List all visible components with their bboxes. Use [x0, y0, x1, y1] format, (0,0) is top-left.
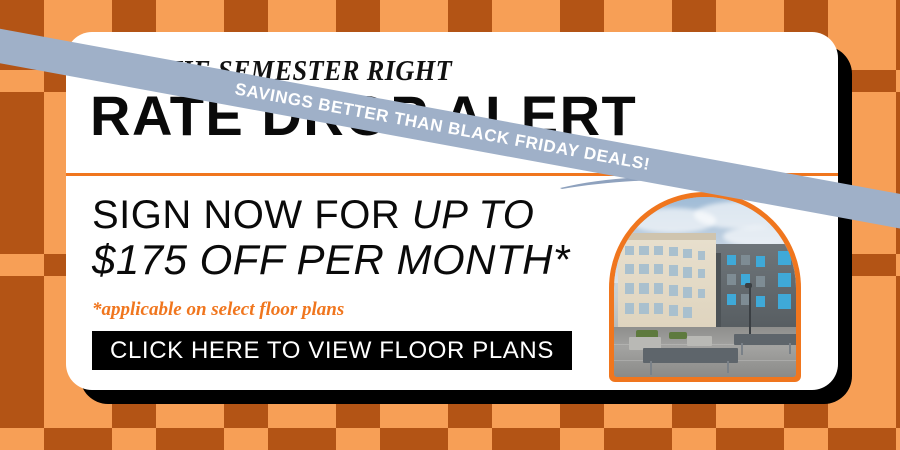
ping-pong-table: [643, 348, 738, 362]
property-photo: [614, 197, 796, 377]
offer-line-1: SIGN NOW FOR UP TO: [92, 194, 570, 237]
lamp-post: [749, 287, 751, 341]
offer-text: SIGN NOW FOR UP TO $175 OFF PER MONTH*: [92, 194, 570, 283]
lamp-head: [745, 283, 752, 288]
planter: [687, 336, 712, 347]
building-left-roofline: [618, 233, 716, 240]
offer-line1-prefix: SIGN NOW FOR: [92, 193, 412, 237]
ping-pong-table: [734, 334, 796, 345]
offer-line1-emphasis: UP TO: [412, 193, 535, 237]
disclaimer-text: *applicable on select floor plans: [92, 299, 344, 321]
hedge: [669, 332, 687, 339]
property-photo-frame: [609, 192, 801, 382]
view-floor-plans-button[interactable]: CLICK HERE TO VIEW FLOOR PLANS: [92, 331, 572, 370]
offer-line-2: $175 OFF PER MONTH*: [92, 237, 570, 282]
promo-banner: END THE SEMESTER RIGHT RATE DROP ALERT S…: [0, 0, 900, 450]
card-header: END THE SEMESTER RIGHT RATE DROP ALERT: [66, 32, 838, 173]
